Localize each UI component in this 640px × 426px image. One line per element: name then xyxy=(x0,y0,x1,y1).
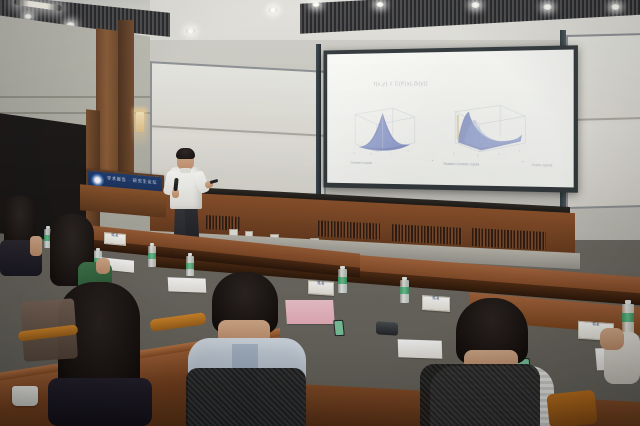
chair-armrest xyxy=(546,390,597,426)
wall-sconce xyxy=(136,112,144,132)
recessed-downlight xyxy=(611,4,620,10)
recessed-downlight xyxy=(376,2,384,7)
wall-ventilation-grille xyxy=(392,224,462,245)
conference-chair[interactable] xyxy=(420,364,540,426)
conference-chair[interactable] xyxy=(186,368,306,426)
nameplate-text: 姓名 xyxy=(309,281,333,286)
eyeglasses-icon xyxy=(178,157,193,161)
recessed-downlight xyxy=(269,7,277,13)
screen-left-rail xyxy=(316,44,321,200)
smartphone[interactable] xyxy=(333,320,345,336)
water-bottle[interactable] xyxy=(148,243,156,267)
wall-ventilation-grille xyxy=(472,228,546,250)
presenter-collar xyxy=(180,168,191,173)
banner-text: 学术报告 · 研究生论坛 xyxy=(107,175,157,185)
water-bottle[interactable] xyxy=(400,277,409,303)
presentation-clicker[interactable] xyxy=(210,179,219,184)
screen-glare xyxy=(327,49,573,187)
recessed-downlight xyxy=(471,2,480,8)
conference-room-photo: f(x,y) = C(F(x),G(y)) 0.51 1 xyxy=(0,0,640,426)
ceramic-cup[interactable] xyxy=(12,386,38,406)
wood-column xyxy=(118,20,134,190)
nameplate: 姓名 xyxy=(308,280,334,296)
recessed-downlight xyxy=(312,2,320,7)
water-bottle[interactable] xyxy=(338,266,347,293)
recessed-downlight xyxy=(186,28,195,34)
projection-screen[interactable]: f(x,y) = C(F(x),G(y)) 0.51 1 xyxy=(324,45,578,192)
camera-on-table xyxy=(376,321,398,336)
projected-slide: f(x,y) = C(F(x),G(y)) 0.51 1 xyxy=(327,49,573,187)
recessed-downlight xyxy=(543,4,552,10)
attendee-front-left-woman xyxy=(0,196,46,276)
attendee-far-right-arm xyxy=(600,310,640,384)
wall-ventilation-grille xyxy=(318,220,380,239)
